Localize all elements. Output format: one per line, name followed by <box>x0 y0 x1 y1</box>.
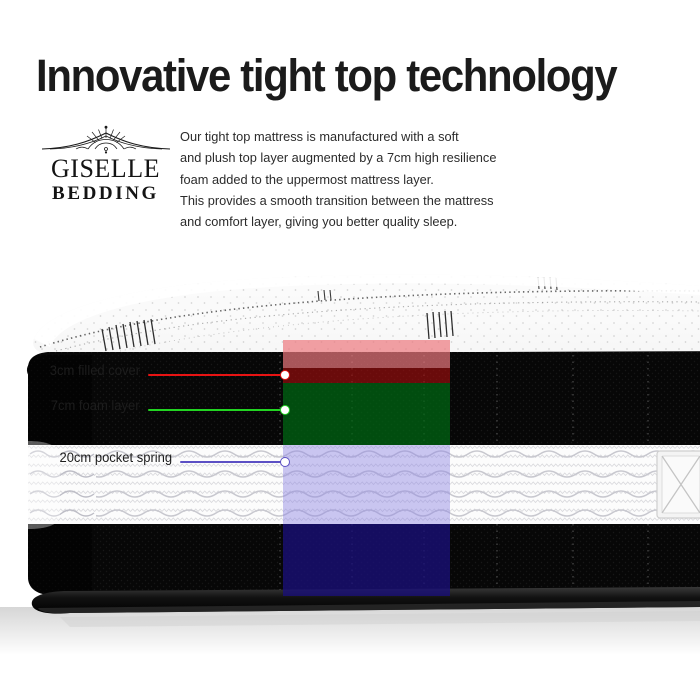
callout-line-foam-layer <box>148 409 287 411</box>
brand-subtitle: BEDDING <box>38 183 173 205</box>
callout-dot-pocket-spring <box>281 458 289 466</box>
intro-line: Our tight top mattress is manufactured w… <box>180 126 515 147</box>
brand-name: GISELLE <box>38 155 173 183</box>
base-layer-highlight <box>283 524 450 596</box>
foam-layer-highlight <box>283 383 450 445</box>
brand-logo: GISELLE BEDDING <box>38 124 173 205</box>
callout-dot-filled-cover <box>281 371 289 379</box>
page-title: Innovative tight top technology <box>36 52 641 100</box>
callout-line-filled-cover <box>148 374 287 376</box>
x-stitched-handle-icon <box>657 451 700 518</box>
intro-paragraph: Our tight top mattress is manufactured w… <box>180 126 515 232</box>
crown-arch-ornament-icon <box>40 124 172 154</box>
callout-label-foam-layer: 7cm foam layer <box>51 398 140 413</box>
pocket-spring-highlight <box>283 445 450 524</box>
intro-line: and comfort layer, giving you better qua… <box>180 211 515 232</box>
filled-cover-band <box>283 368 450 383</box>
callout-dot-foam-layer <box>281 406 289 414</box>
filled-cover-highlight <box>283 340 450 368</box>
intro-line: and plush top layer augmented by a 7cm h… <box>180 147 515 168</box>
intro-line: foam added to the uppermost mattress lay… <box>180 169 515 190</box>
intro-line: This provides a smooth transition betwee… <box>180 190 515 211</box>
callout-line-pocket-spring <box>180 461 287 463</box>
callout-label-filled-cover: 3cm filled cover <box>50 363 140 378</box>
callout-label-pocket-spring: 20cm pocket spring <box>59 450 172 465</box>
